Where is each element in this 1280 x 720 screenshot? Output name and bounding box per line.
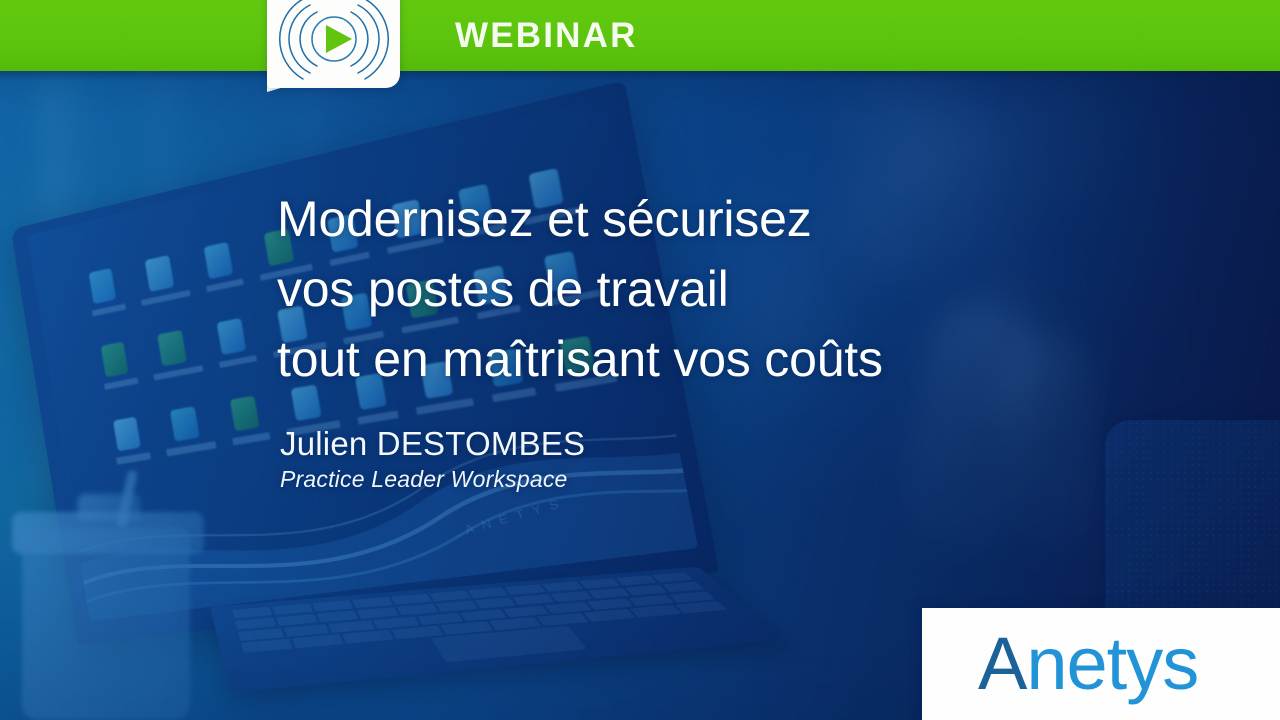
slide-title: Modernisez et sécurisez vos postes de tr…: [277, 184, 883, 394]
speaker-info: Julien DESTOMBES Practice Leader Workspa…: [280, 423, 585, 494]
anetys-logo-text: netys: [1026, 622, 1198, 705]
anetys-logo: Anetys: [978, 622, 1198, 706]
title-line-1: Modernisez et sécurisez: [277, 184, 883, 254]
webinar-play-broadcast-icon: [273, 0, 395, 82]
anetys-logo-panel: Anetys: [922, 608, 1280, 720]
speaker-name: Julien DESTOMBES: [280, 423, 585, 464]
title-line-2: vos postes de travail: [277, 254, 883, 324]
webinar-badge-label: WEBINAR: [455, 14, 638, 58]
anetys-logo-initial: A: [978, 622, 1026, 705]
webinar-header-band: [0, 0, 1280, 71]
speaker-role: Practice Leader Workspace: [280, 464, 585, 494]
header-band-shadow: [0, 71, 1280, 81]
webinar-title-slide: ANETYS: [0, 0, 1280, 720]
title-line-3: tout en maîtrisant vos coûts: [277, 324, 883, 394]
